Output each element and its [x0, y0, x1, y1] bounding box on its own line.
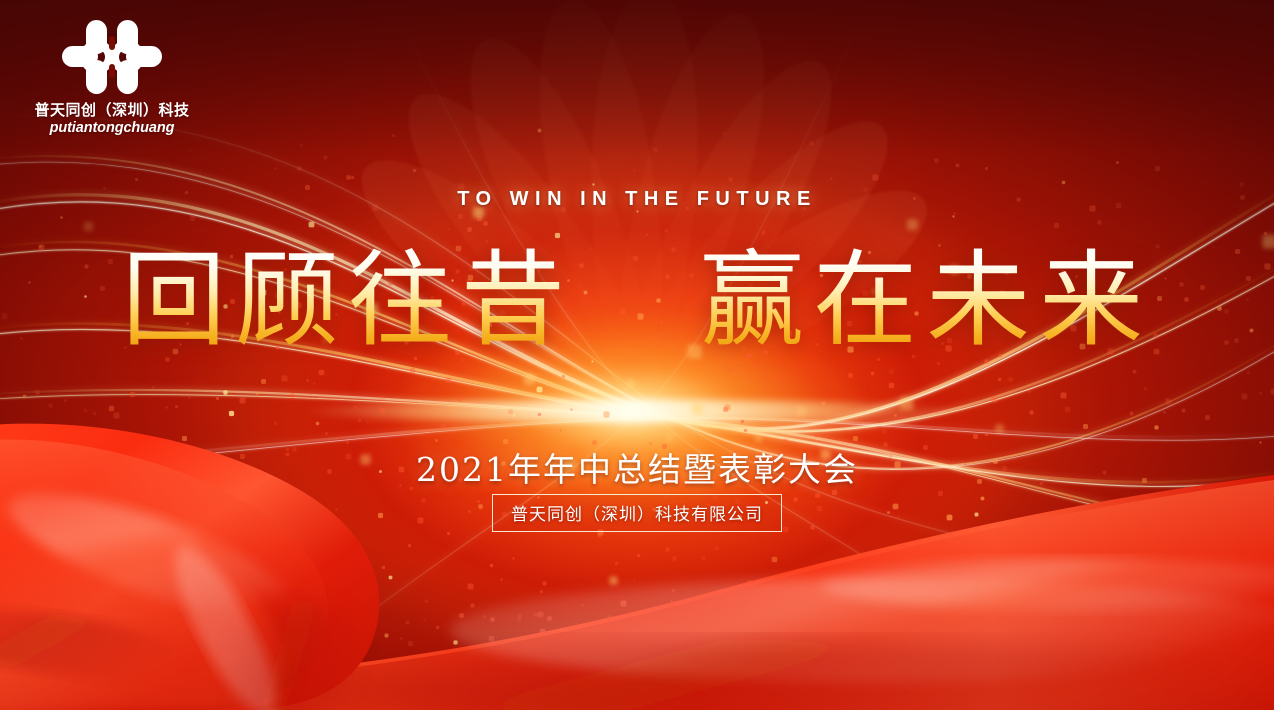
headline-part-right: 赢在未来 [700, 239, 1152, 361]
company-logo[interactable]: 普天同创（深圳）科技 putiantongchuang [26, 18, 198, 136]
headline-part-left: 回顾往昔 [122, 239, 574, 361]
company-name-badge: 普天同创（深圳）科技有限公司 [492, 494, 782, 532]
event-subtitle: 2021年年中总结暨表彰大会 [0, 443, 1274, 491]
company-name-wrapper: 普天同创（深圳）科技有限公司 [0, 494, 1274, 532]
poster-canvas: 普天同创（深圳）科技 putiantongchuang TO WIN IN TH… [0, 0, 1274, 710]
logo-name-cn: 普天同创（深圳）科技 [26, 102, 198, 119]
logo-mark-svg [60, 18, 164, 96]
red-silk-drape [0, 380, 1274, 710]
logo-name-en: putiantongchuang [26, 120, 198, 136]
tagline-to-win-in-the-future: TO WIN IN THE FUTURE [0, 188, 1274, 211]
putian-tongchuang-molecule-mark [60, 18, 164, 96]
main-headline: 回顾往昔 赢在未来 [0, 244, 1274, 356]
silk-svg [0, 380, 1274, 710]
